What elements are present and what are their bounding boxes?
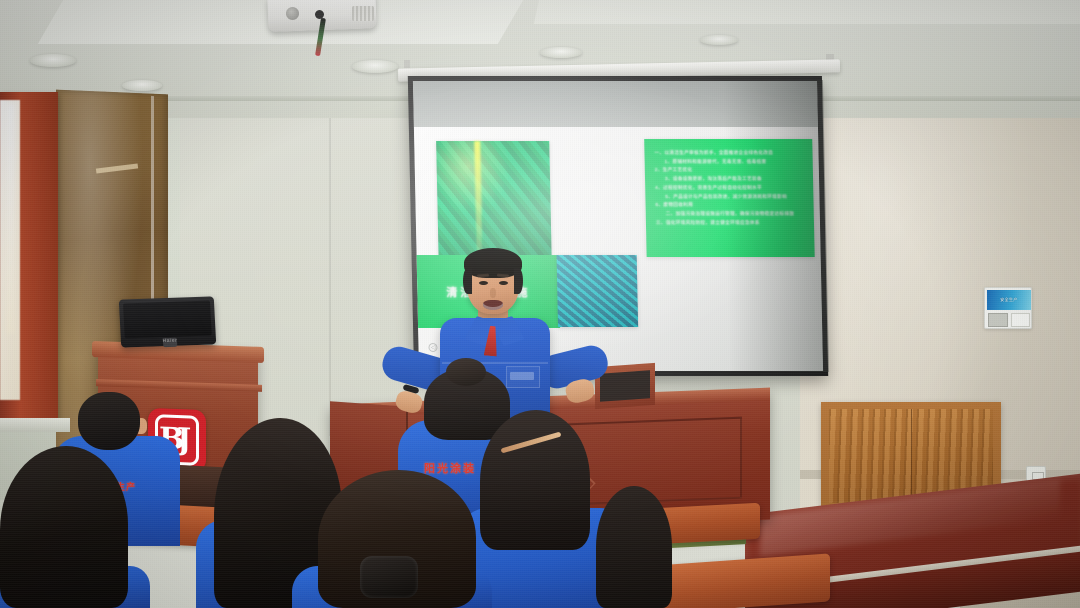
monitor-screen <box>123 301 212 339</box>
slide-prev-icon[interactable]: ◁ <box>428 342 437 351</box>
attendee-hair-clip <box>360 556 418 598</box>
wall-info-panel[interactable]: 安全生产 <box>984 287 1032 329</box>
slide-bullet: 三、强化环境风险防控，建立健全环境应急体系 <box>656 219 806 228</box>
downlight-icon <box>122 80 162 91</box>
attendee-blue-shirt-left-head <box>78 392 140 450</box>
speaker-mouth <box>483 300 503 310</box>
downlight-icon <box>30 54 76 67</box>
speaker-nose <box>490 288 496 298</box>
downlight-icon <box>352 60 398 73</box>
slide-bullet: 3、设备设施更新，淘汰落后产能及工艺装备 <box>655 175 805 184</box>
ceiling-recess-panel-2 <box>534 0 1080 24</box>
wall-panel-header: 安全生产 <box>987 290 1031 310</box>
slide-bullet: 一、以清洁生产审核为抓手，全面推进企业绿色化改造 <box>654 149 804 158</box>
downlight-icon <box>540 47 582 58</box>
slide-photo-bamboo-leaves <box>436 141 551 256</box>
window-sill <box>0 418 70 432</box>
screen-top-band <box>413 81 818 127</box>
slide-photo-leaves-closeup <box>557 255 639 327</box>
meeting-room-scene: 清洁生产措施 一、以清洁生产审核为抓手，全面推进企业绿色化改造 1、原辅材料和能… <box>0 0 1080 608</box>
attendee-hairstick-head <box>480 410 590 550</box>
wall-panel-box-right <box>1011 313 1030 327</box>
speaker-badge <box>510 372 534 380</box>
attendee-right-partial-head <box>596 486 672 608</box>
podium-monitor[interactable]: Haier <box>119 296 216 347</box>
wall-panel-box-left <box>988 313 1008 327</box>
projector-lens-icon <box>286 7 299 20</box>
attendee-uniform-back-text: 阳光涂装 <box>424 460 476 476</box>
slide-bullet: 二、加强污染治理设施运行管理，确保污染物稳定达标排放 <box>656 210 806 219</box>
speaker-hair-right <box>514 268 523 294</box>
wall-panel-header-text: 安全生产 <box>1000 297 1018 303</box>
speaker-eye-right <box>499 281 508 285</box>
speaker-hair-left <box>463 268 472 294</box>
attendee-hair-bun <box>446 358 486 386</box>
slide-text-block: 一、以清洁生产审核为抓手，全面推进企业绿色化改造 1、原辅材料和能源替代，无毒无… <box>644 139 815 257</box>
window-daylight-glow <box>6 104 15 334</box>
monitor-brand-label: Haier <box>153 335 187 345</box>
wall-seam <box>329 96 331 436</box>
speaker-eye-left <box>479 281 488 285</box>
slide-bullet: 4、过程控制优化，完善生产过程自动化控制水平 <box>655 184 805 193</box>
attendee-front-left-hair <box>0 446 128 608</box>
downlight-icon <box>700 35 738 45</box>
slide-bullet: 5、产品设计与产品包装改进，减少资源消耗和环境影响 <box>655 193 805 202</box>
screen-bracket-left <box>404 60 410 68</box>
projector-vent <box>352 6 374 21</box>
side-desk-equipment <box>600 370 650 401</box>
slide-bullet: 1、原辅材料和能源替代，无毒无害、低毒低害 <box>655 158 805 167</box>
slide-bullet: 6、废物回收利用 <box>655 201 805 210</box>
slide-bullet: 2、生产工艺优化 <box>655 166 805 175</box>
podium-logo-letter-j: J <box>177 422 192 459</box>
cabinet-door-left[interactable] <box>829 409 912 503</box>
